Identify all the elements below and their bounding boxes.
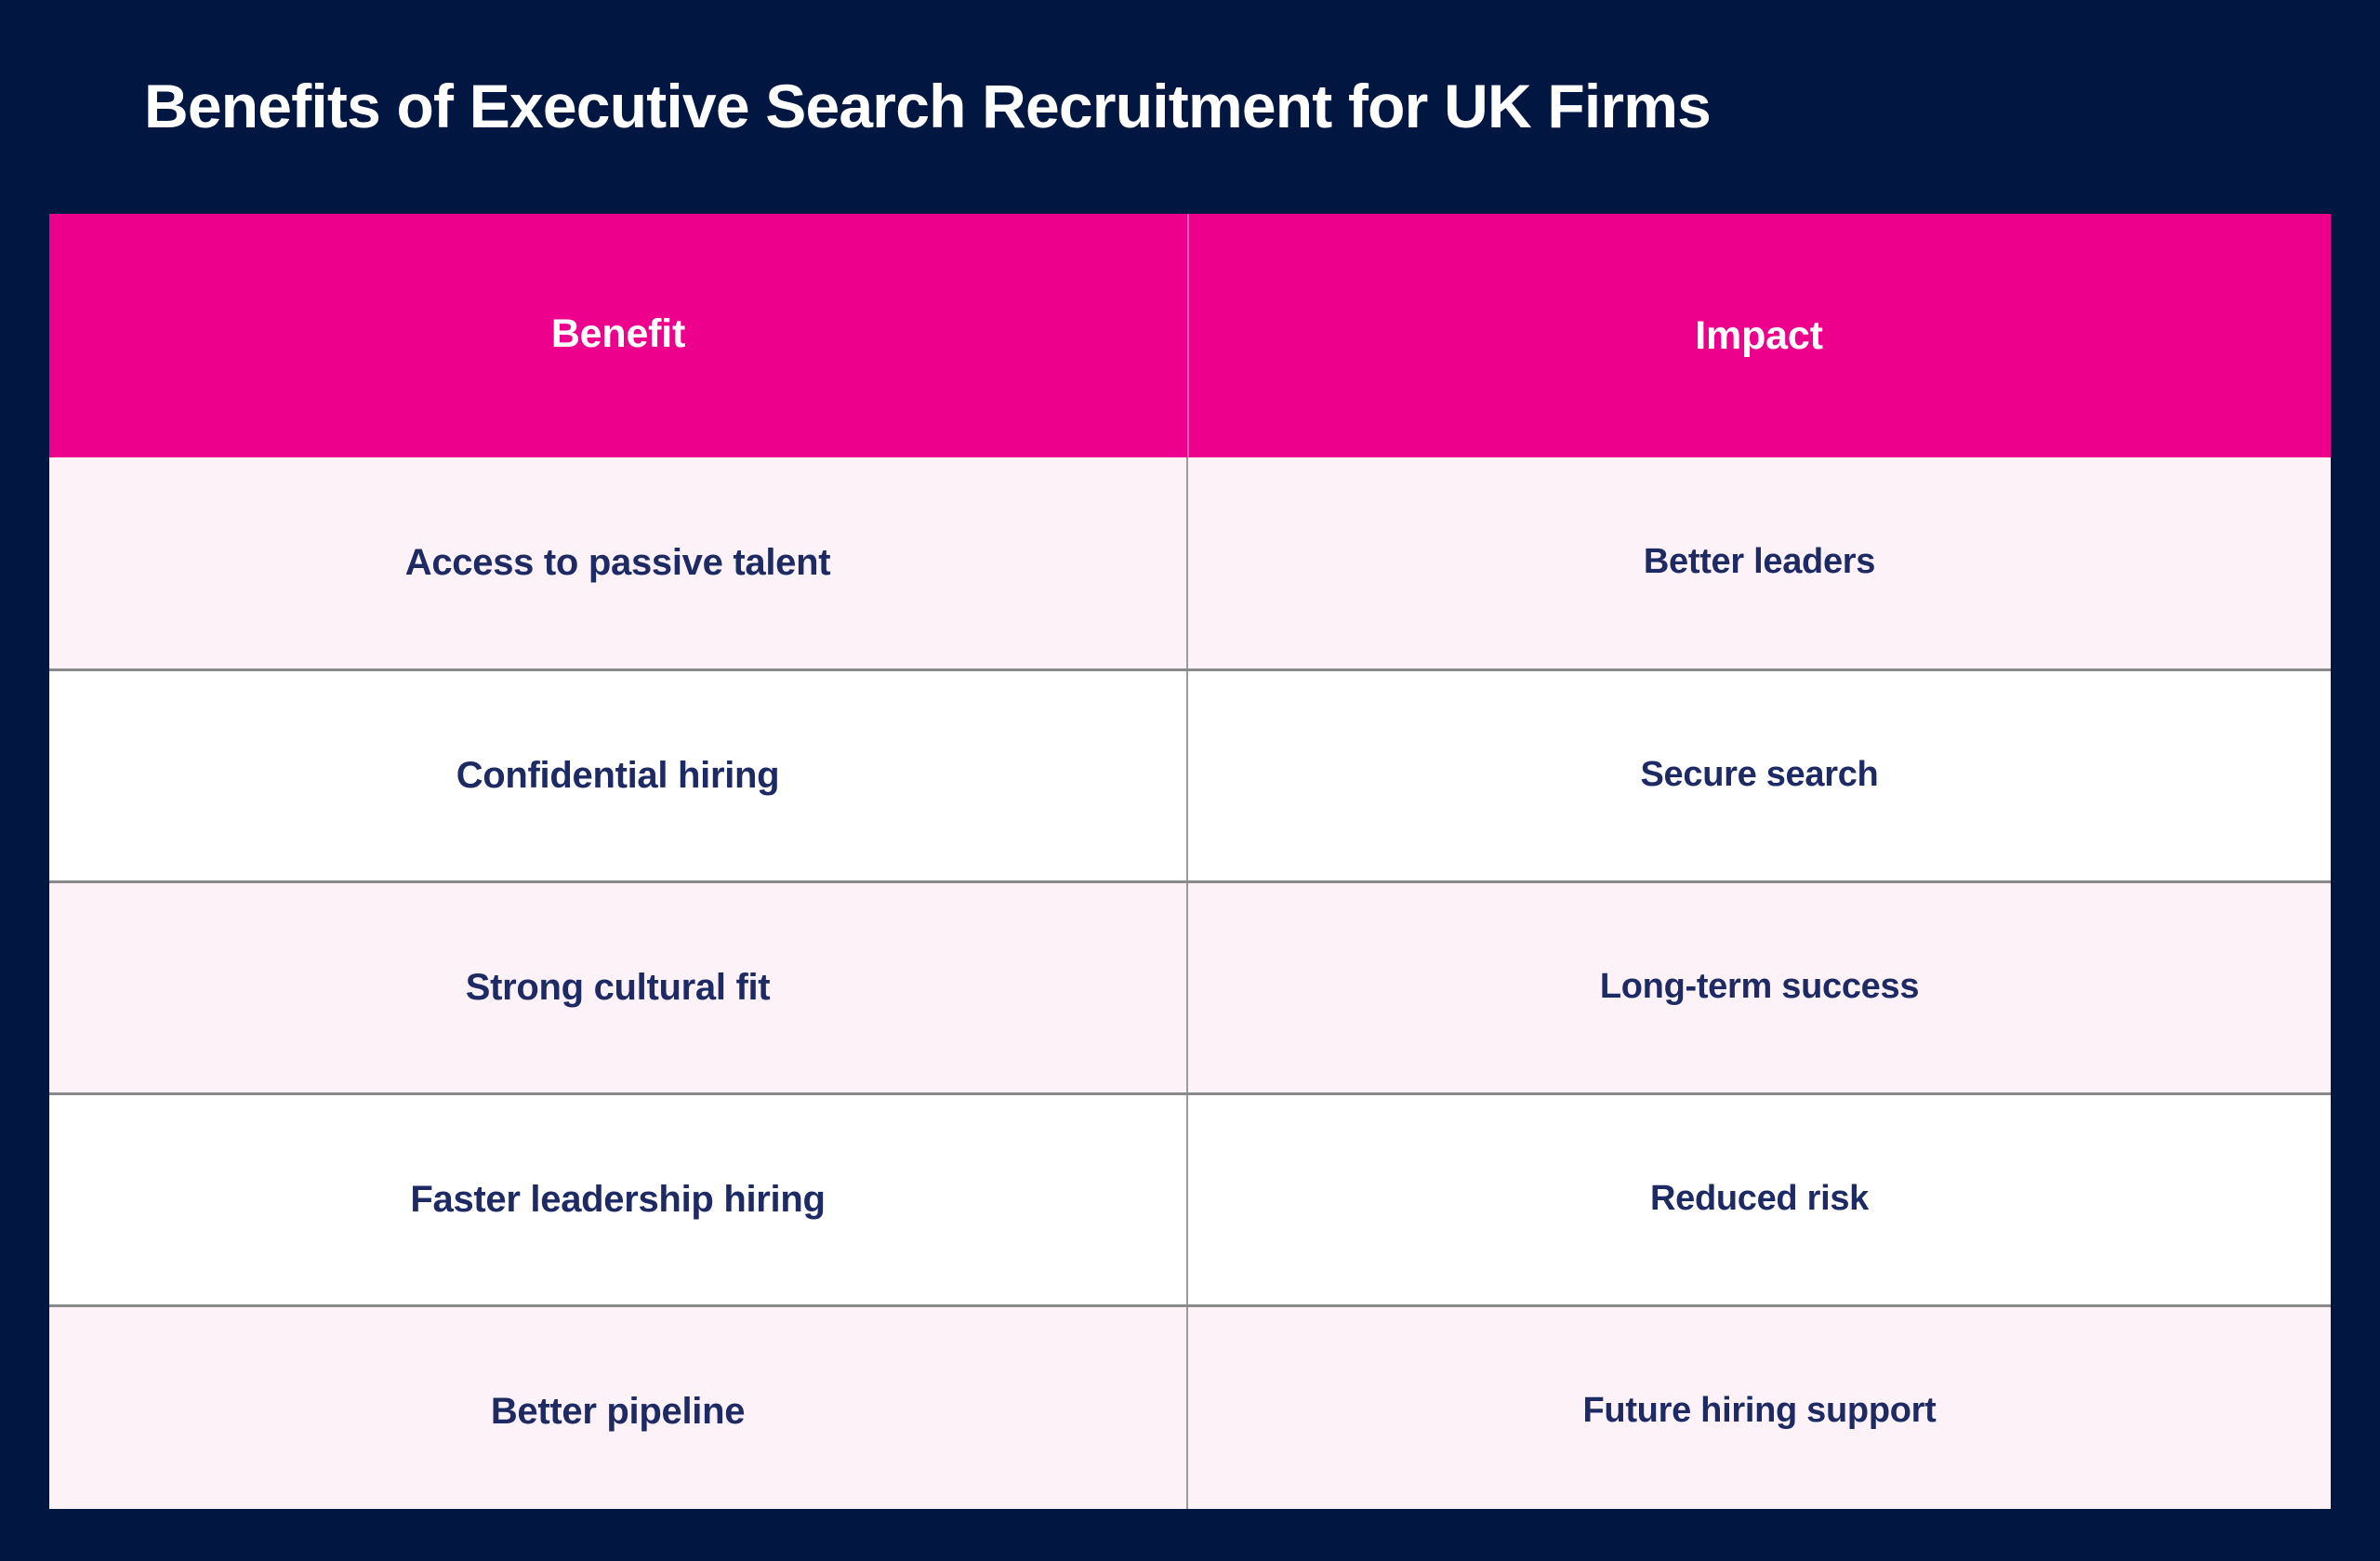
table-row: Confidential hiring Secure search (49, 669, 2331, 881)
cell-benefit: Faster leadership hiring (49, 1093, 1187, 1305)
page-title: Benefits of Executive Search Recruitment… (144, 74, 1711, 139)
cell-benefit: Access to passive talent (49, 457, 1187, 669)
cell-impact: Future hiring support (1187, 1305, 2331, 1509)
table-row: Faster leadership hiring Reduced risk (49, 1093, 2331, 1305)
cell-impact: Secure search (1187, 669, 2331, 881)
table-row: Better pipeline Future hiring support (49, 1305, 2331, 1509)
cell-benefit: Better pipeline (49, 1305, 1187, 1509)
table-header: Benefit Impact (49, 214, 2331, 457)
cell-impact: Long-term success (1187, 881, 2331, 1093)
table-row: Access to passive talent Better leaders (49, 457, 2331, 669)
table-header-row: Benefit Impact (49, 214, 2331, 457)
title-bar: Benefits of Executive Search Recruitment… (0, 0, 2380, 214)
cell-impact: Better leaders (1187, 457, 2331, 669)
cell-benefit: Strong cultural fit (49, 881, 1187, 1093)
cell-impact: Reduced risk (1187, 1093, 2331, 1305)
column-header-impact: Impact (1187, 214, 2331, 457)
column-header-benefit: Benefit (49, 214, 1187, 457)
benefits-table: Benefit Impact Access to passive talent … (49, 214, 2331, 1509)
slide-canvas: Benefits of Executive Search Recruitment… (0, 0, 2380, 1561)
benefits-table-container: Benefit Impact Access to passive talent … (49, 214, 2331, 1509)
table-body: Access to passive talent Better leaders … (49, 457, 2331, 1509)
table-row: Strong cultural fit Long-term success (49, 881, 2331, 1093)
cell-benefit: Confidential hiring (49, 669, 1187, 881)
